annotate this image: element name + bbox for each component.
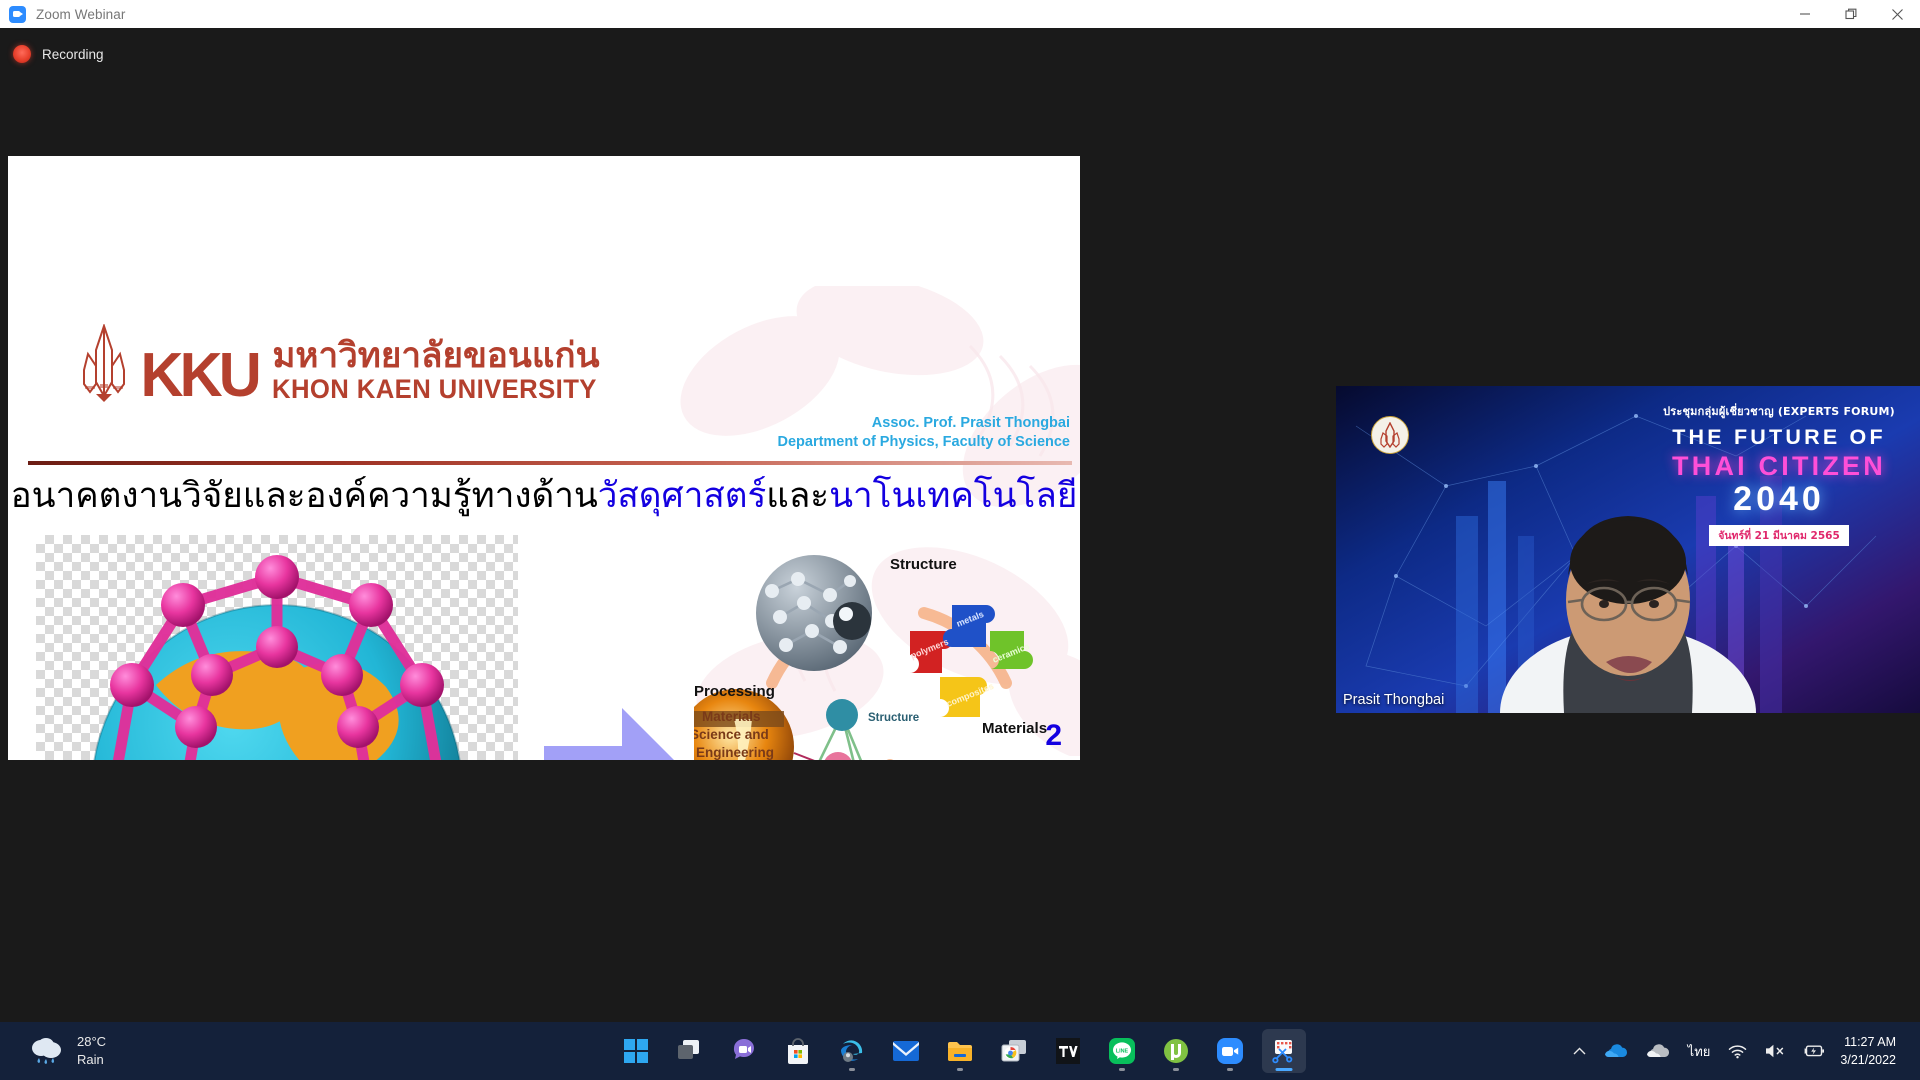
file-explorer[interactable]: [938, 1029, 982, 1073]
header-divider: [28, 461, 1072, 465]
chevron-up-icon: [1573, 1047, 1586, 1056]
bg-thai-citizen: THAI CITIZEN: [1654, 451, 1904, 482]
wifi-icon: [1728, 1044, 1747, 1059]
microsoft-edge[interactable]: [830, 1029, 874, 1073]
bg-the-future-of: THE FUTURE OF: [1654, 425, 1904, 450]
tetra-label-structure: Structure: [868, 712, 919, 724]
kku-seal-icon: [1371, 416, 1409, 454]
zoom-camera-icon: [1217, 1038, 1243, 1064]
materials-science-diagram: Structure Processing polymers metals c: [694, 551, 1080, 760]
folder-icon: [947, 1040, 973, 1063]
participant-name-label: Prasit Thongbai: [1343, 692, 1444, 708]
running-indicator: [849, 1068, 855, 1071]
window-title-bar: Zoom Webinar: [0, 0, 1920, 28]
label-materials: Materials: [982, 720, 1047, 737]
recording-dot-icon: [13, 45, 31, 63]
window-controls: [1782, 0, 1920, 28]
kku-thai-name: มหาวิทยาลัยขอนแก่น: [272, 338, 607, 376]
restore-icon[interactable]: [1828, 0, 1874, 28]
store-bag-icon: [786, 1038, 810, 1064]
running-indicator: [1119, 1068, 1125, 1071]
language-label: ไทย: [1688, 1041, 1711, 1062]
weather-condition: Rain: [77, 1051, 106, 1069]
snipping-tool-icon: [1271, 1038, 1297, 1064]
right-arrow-icon: [542, 706, 690, 760]
svg-text:Materials: Materials: [702, 709, 761, 724]
participant-video-tile[interactable]: ประชุมกลุ่มผู้เชี่ยวชาญ (EXPERTS FORUM) …: [1336, 386, 1920, 713]
minimize-icon[interactable]: [1782, 0, 1828, 28]
weather-widget[interactable]: 28°C Rain: [28, 1033, 106, 1068]
onedrive-work[interactable]: [1595, 1029, 1637, 1073]
slide-title-part2: วัสดุศาสตร์: [598, 476, 767, 516]
weather-temperature: 28°C: [77, 1033, 106, 1051]
recording-label: Recording: [42, 47, 104, 62]
presenter-credit: Assoc. Prof. Prasit Thongbai Department …: [777, 414, 1070, 452]
chat-button[interactable]: [722, 1029, 766, 1073]
svg-text:Science and: Science and: [694, 727, 769, 742]
kku-emblem-icon: [76, 324, 132, 404]
rain-cloud-icon: [28, 1035, 64, 1067]
running-indicator: [1227, 1068, 1233, 1071]
onedrive-icon: [1604, 1043, 1628, 1060]
slide-title-part1: อนาคตงานวิจัยและองค์ความรู้ทางด้าน: [11, 476, 598, 516]
line[interactable]: LINE: [1100, 1029, 1144, 1073]
tray-overflow-button[interactable]: [1564, 1029, 1595, 1073]
snipping-tool[interactable]: [1262, 1029, 1306, 1073]
microsoft-store[interactable]: [776, 1029, 820, 1073]
mail-envelope-icon: [893, 1040, 919, 1062]
slide-title-part3: และ: [766, 476, 829, 516]
svg-text:LINE: LINE: [1116, 1049, 1129, 1055]
zoom-webinar-window: Recording: [0, 28, 1920, 1022]
speaker-muted-icon: [1765, 1043, 1785, 1059]
kku-letters: KKU: [140, 347, 257, 404]
presenter-name: Assoc. Prof. Prasit Thongbai: [777, 414, 1070, 433]
clock-time: 11:27 AM: [1840, 1033, 1896, 1051]
window-title: Zoom Webinar: [36, 7, 125, 22]
materials-image: polymers metals ceramics composites: [909, 605, 1033, 717]
active-app-indicator: [1276, 1068, 1293, 1071]
bg-event-date: จันทร์ที่ 21 มีนาคม 2565: [1709, 525, 1849, 546]
windows-logo-icon: [624, 1039, 648, 1063]
close-icon[interactable]: [1874, 0, 1920, 28]
volume-button[interactable]: [1756, 1029, 1794, 1073]
structure-image: [756, 555, 872, 671]
battery-charging-icon: [1803, 1044, 1825, 1058]
bg-experts-forum: ประชุมกลุ่มผู้เชี่ยวชาญ (EXPERTS FORUM): [1654, 402, 1904, 420]
network-button[interactable]: [1719, 1029, 1756, 1073]
onedrive-personal-icon: [1646, 1043, 1670, 1060]
virtual-background-text: ประชุมกลุ่มผู้เชี่ยวชาญ (EXPERTS FORUM) …: [1654, 402, 1904, 546]
battery-button[interactable]: [1794, 1029, 1834, 1073]
slide-title-part4: นาโนเทคโนโลยี: [829, 476, 1077, 516]
task-view-button[interactable]: [668, 1029, 712, 1073]
label-processing: Processing: [694, 683, 775, 700]
bg-year-2040: 2040: [1654, 480, 1904, 519]
taskbar-app-icons: LINE: [614, 1029, 1306, 1073]
task-view-icon: [677, 1039, 703, 1063]
edge-icon: [839, 1038, 865, 1064]
label-structure: Structure: [890, 556, 957, 573]
utorrent[interactable]: [1154, 1029, 1198, 1073]
kku-logo: KKU มหาวิทยาลัยขอนแก่น KHON KAEN UNIVERS…: [76, 324, 607, 404]
mail[interactable]: [884, 1029, 928, 1073]
teams-chat-icon: [731, 1038, 757, 1064]
running-indicator: [1173, 1068, 1179, 1071]
language-indicator[interactable]: ไทย: [1679, 1029, 1720, 1073]
photos-icon: [1001, 1039, 1027, 1063]
recording-indicator[interactable]: Recording: [8, 40, 104, 68]
tradingview-icon: [1056, 1038, 1080, 1064]
running-indicator: [957, 1068, 963, 1071]
slide-page-number: 2: [1045, 719, 1062, 753]
svg-text:Engineering: Engineering: [696, 745, 774, 760]
zoom[interactable]: [1208, 1029, 1252, 1073]
tradingview[interactable]: [1046, 1029, 1090, 1073]
windows-taskbar: 28°C Rain: [0, 1022, 1920, 1080]
taskbar-clock[interactable]: 11:27 AM 3/21/2022: [1834, 1033, 1906, 1069]
photos[interactable]: [992, 1029, 1036, 1073]
presenter-department: Department of Physics, Faculty of Scienc…: [777, 433, 1070, 452]
start-button[interactable]: [614, 1029, 658, 1073]
zoom-camera-icon: [9, 6, 26, 23]
shared-slide: KKU มหาวิทยาลัยขอนแก่น KHON KAEN UNIVERS…: [8, 156, 1080, 760]
slide-title: อนาคตงานวิจัยและองค์ความรู้ทางด้านวัสดุศ…: [8, 468, 1080, 523]
line-icon: LINE: [1109, 1038, 1135, 1064]
nanotechnology-globe-image: [36, 535, 518, 760]
system-tray: ไทย: [1564, 1029, 1906, 1073]
clock-date: 3/21/2022: [1840, 1051, 1896, 1069]
utorrent-icon: [1163, 1038, 1189, 1064]
kku-english-name: KHON KAEN UNIVERSITY: [272, 375, 597, 404]
onedrive-personal[interactable]: [1637, 1029, 1679, 1073]
